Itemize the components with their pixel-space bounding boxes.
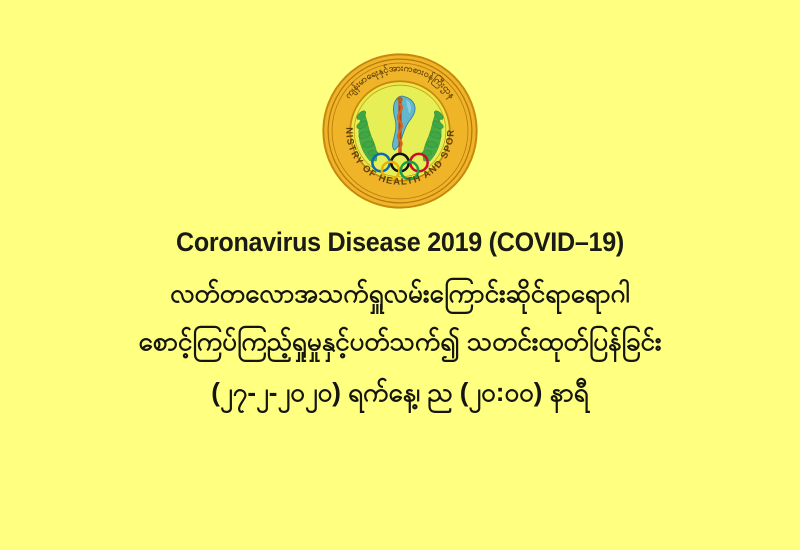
announcement-line-2: စောင့်ကြပ်ကြည့်ရှုမှုနှင့်ပတ်သက်၍ သတင်းထ… <box>0 322 800 360</box>
ministry-seal-icon: ကျန်းမာရေးနှင့်အားကစားဝန်ကြီးဌာန MINISTR… <box>321 52 479 210</box>
announcement-text-block: Coronavirus Disease 2019 (COVID–19) လတ်တ… <box>0 228 800 411</box>
announcement-line-1: လတ်တလောအသက်ရှူလမ်းကြောင်းဆိုင်ရာရောဂါ <box>0 274 800 312</box>
title-english: Coronavirus Disease 2019 (COVID–19) <box>28 228 772 258</box>
ministry-seal-logo: ကျန်းမာရေးနှင့်အားကစားဝန်ကြီးဌာန MINISTR… <box>321 52 479 210</box>
announcement-poster: ကျန်းမာရေးနှင့်အားကစားဝန်ကြီးဌာန MINISTR… <box>0 0 800 550</box>
announcement-date-time-line: (၂၇-၂-၂၀၂၀) ရက်နေ့၊ ည (၂၀:၀၀) နာရီ <box>0 373 800 411</box>
